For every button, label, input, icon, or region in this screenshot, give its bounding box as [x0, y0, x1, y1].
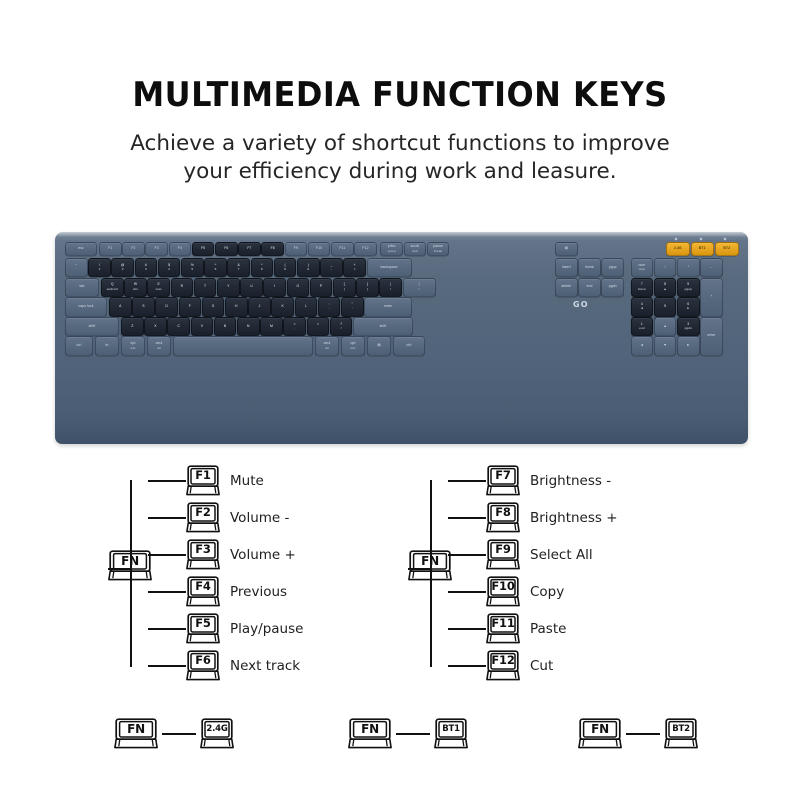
keycap-label: FN [348, 718, 392, 739]
key--[interactable]: :; [318, 297, 341, 316]
key-backslash[interactable]: |\ [403, 278, 436, 297]
pairing-row: FN2.4GFNBT1FNBT2 [0, 718, 800, 778]
key-k[interactable]: K [271, 297, 294, 316]
key-x[interactable]: X [144, 317, 167, 336]
shortcut-row: F1Mute [186, 462, 303, 499]
key-sublegend: [ [344, 288, 345, 291]
key-legend: delete [561, 285, 571, 289]
key-legend: * [688, 266, 689, 270]
key-legend: S [142, 305, 144, 309]
shortcut-row: F8Brightness + [486, 499, 618, 536]
key-ctrl-right[interactable]: ctrl [393, 336, 425, 355]
row-connector [148, 665, 186, 667]
key-legend: BT2 [723, 247, 730, 251]
key-sublegend: , [294, 327, 295, 330]
keycap-label: F9 [486, 539, 520, 560]
key-sublegend: 8 [261, 268, 263, 271]
keycap-label: F3 [186, 539, 220, 560]
key-numpad-plus[interactable]: + [700, 278, 723, 317]
key-legend: ctrl [77, 344, 82, 348]
keycap-f12: F12 [486, 650, 520, 682]
shortcut-row: F3Volume + [186, 536, 303, 573]
key-f4[interactable]: F4 [169, 242, 192, 256]
key-f9[interactable]: F9 [285, 242, 308, 256]
pairing-connector [162, 733, 196, 735]
key-legend: Z [131, 325, 133, 329]
key-sublegend: mac [156, 288, 162, 291]
key-legend: O [297, 285, 300, 289]
key-numpad-multiply[interactable]: * [677, 258, 700, 277]
key-ctrl-left[interactable]: ctrl [65, 336, 93, 355]
key-sublegend: ◄ [640, 307, 643, 310]
key-legend: home [585, 266, 594, 270]
key-legend: J [259, 305, 261, 309]
row-connector [448, 591, 486, 593]
pairing-connector [626, 733, 660, 735]
key-bt2[interactable]: BT2 [715, 242, 739, 256]
key-arrow-up[interactable]: ▲ [654, 317, 677, 336]
key-legend: N [247, 325, 250, 329]
key-f10[interactable]: F10 [308, 242, 331, 256]
key-legend: pgdn [609, 285, 617, 289]
keycap-label: FN [114, 718, 158, 739]
key-space[interactable] [173, 336, 313, 355]
key-legend: shift [89, 325, 96, 329]
key-pgdn[interactable]: pgdn [601, 278, 624, 297]
keyboard-deck: escF1F2F3F4F5F6F7F8F9F10F11F12prtscsysrq… [55, 236, 748, 432]
fn-connector-left [108, 568, 132, 570]
shortcut-row: F5Play/pause [186, 610, 303, 647]
key-legend: 5 [664, 305, 666, 309]
key-legend: Y [227, 285, 229, 289]
key-legend: F5 [201, 247, 205, 251]
key-legend: ▤ [565, 247, 568, 251]
key-legend: B [224, 325, 226, 329]
key--[interactable]: ?/ [330, 317, 353, 336]
row-connector [148, 628, 186, 630]
key-legend: + [710, 295, 712, 299]
key-o[interactable]: O [287, 278, 310, 297]
key-sublegend: 2 [122, 268, 124, 271]
bracket-spine-right [430, 480, 432, 667]
key-cmd-right[interactable]: cmdalt [315, 336, 339, 355]
key-f7[interactable]: F7 [238, 242, 261, 256]
key-numpad-5[interactable]: 5 [654, 297, 677, 316]
key-legend: F9 [294, 247, 298, 251]
key-numpad-4[interactable]: 4◄ [631, 297, 654, 316]
key-pgup[interactable]: pgup [601, 258, 624, 277]
key-legend: H [235, 305, 238, 309]
key-sublegend: ` [76, 268, 77, 271]
pairing-combo: FNBT1 [348, 718, 468, 750]
key-calculator[interactable]: ▤ [555, 242, 578, 256]
key-numpad-8[interactable]: 8▲ [654, 278, 677, 297]
key--[interactable]: "' [341, 297, 364, 316]
key-|[interactable]: |\ [379, 278, 402, 297]
key-y[interactable]: Y [217, 278, 240, 297]
key--[interactable]: _- [320, 258, 343, 277]
key-l[interactable]: L [295, 297, 318, 316]
pairing-connector [396, 733, 430, 735]
key-sublegend: ; [329, 307, 330, 310]
key-legend: F8 [271, 247, 275, 251]
key-numpad-9[interactable]: 9pgup [677, 278, 700, 297]
key-arrow-left[interactable]: ◄ [631, 336, 654, 355]
keycap-f6: F6 [186, 650, 220, 682]
key-legend: K [282, 305, 284, 309]
key-legend: 2.4G [674, 247, 682, 251]
keycap-fn: FN [578, 718, 622, 750]
keycap-f8: F8 [486, 502, 520, 534]
key-legend: F1 [108, 247, 112, 251]
key-sublegend: lock [412, 250, 418, 253]
key-legend: R [181, 285, 184, 289]
key-legend: pgup [609, 266, 617, 270]
keycap-f3: F3 [186, 539, 220, 571]
key-sublegend: ► [687, 307, 690, 310]
key-sublegend: 7 [238, 268, 240, 271]
row-connector [148, 517, 186, 519]
key-home[interactable]: home [578, 258, 601, 277]
shortcut-action-label: Mute [230, 473, 264, 489]
key-cmd-left[interactable]: cmdalt [147, 336, 171, 355]
keycap-2-4g: 2.4G [200, 718, 234, 750]
key-insert[interactable]: insert [555, 258, 578, 277]
key-6[interactable]: ^6 [204, 258, 227, 277]
keycap-f1: F1 [186, 465, 220, 497]
key-f1[interactable]: F1 [99, 242, 122, 256]
shortcut-action-label: Select All [530, 547, 593, 563]
brand-logo: GO [573, 300, 589, 309]
key-spacer2[interactable] [631, 317, 633, 319]
row-connector [448, 554, 486, 556]
key-backspace[interactable]: backspace [367, 258, 412, 277]
key-legend: – [710, 266, 712, 270]
row-connector [148, 480, 186, 482]
key-capslock[interactable]: caps lock [65, 297, 107, 316]
key-numpad-1[interactable]: 1end [631, 317, 654, 336]
key-legend: BT1 [699, 247, 706, 251]
shortcut-action-label: Paste [530, 621, 566, 637]
shortcut-action-label: Volume - [230, 510, 289, 526]
key-f6[interactable]: F6 [215, 242, 238, 256]
key-numlock[interactable]: numlock [631, 258, 654, 277]
key-e[interactable]: Emac [147, 278, 170, 297]
key-legend: ctrl [407, 344, 412, 348]
keycap-label: F8 [486, 502, 520, 523]
keyboard-body: escF1F2F3F4F5F6F7F8F9F10F11F12prtscsysrq… [55, 232, 748, 444]
key-opt-left[interactable]: optwin [121, 336, 145, 355]
key-legend: D [165, 305, 168, 309]
key-b[interactable]: B [214, 317, 237, 336]
key-delete[interactable]: delete [555, 278, 578, 297]
keycap-label: F10 [486, 576, 520, 597]
key-g[interactable]: G [202, 297, 225, 316]
pairing-combo: FN2.4G [114, 718, 234, 750]
key-m[interactable]: M [260, 317, 283, 336]
key-esc[interactable]: esc [65, 242, 97, 256]
key-numpad-7[interactable]: 7home [631, 278, 654, 297]
key-sublegend: \ [390, 288, 391, 291]
key-fn[interactable]: fn [95, 336, 119, 355]
keycap-f5: F5 [186, 613, 220, 645]
key-legend: ▤ [377, 344, 380, 348]
keycap-f7: F7 [486, 465, 520, 497]
shortcut-row: F10Copy [486, 573, 618, 610]
keycap-label: F12 [486, 650, 520, 671]
key-z[interactable]: Z [121, 317, 144, 336]
key-d[interactable]: D [155, 297, 178, 316]
key-sublegend: \ [419, 288, 420, 291]
keycap-fn: FN [114, 718, 158, 750]
row-connector [448, 628, 486, 630]
key-sublegend: win [131, 347, 136, 350]
key-sublegend: 3 [145, 268, 147, 271]
key-sublegend: ' [352, 307, 353, 310]
shortcut-row: F6Next track [186, 647, 303, 684]
key-tab[interactable]: tab [65, 278, 99, 297]
key-legend: enter [384, 305, 392, 309]
key-legend: P [320, 285, 322, 289]
key-9[interactable]: (9 [274, 258, 297, 277]
key-arrow-down[interactable]: ▼ [654, 336, 677, 355]
row-connector [448, 517, 486, 519]
row-connector [148, 591, 186, 593]
shortcut-rows-right: F7Brightness -F8Brightness +F9Select All… [486, 462, 618, 684]
shortcut-action-label: Brightness - [530, 473, 611, 489]
key-sublegend: break [434, 250, 442, 253]
shortcut-column-right: FN F7Brightness -F8Brightness +F9Select … [408, 462, 708, 684]
row-connector [148, 554, 186, 556]
key-legend: backspace [381, 266, 398, 270]
key-spacer[interactable] [654, 317, 656, 319]
key-5[interactable]: %5 [181, 258, 204, 277]
key-bt1[interactable]: BT1 [691, 242, 715, 256]
key-prtsc[interactable]: prtscsysrq [380, 242, 403, 256]
key-pause[interactable]: pausebreak [427, 242, 450, 256]
keycap-label: 2.4G [200, 718, 234, 739]
key-7[interactable]: &7 [227, 258, 250, 277]
key-legend: U [250, 285, 253, 289]
key-menu[interactable]: ▤ [367, 336, 391, 355]
key-sublegend: 0 [307, 268, 309, 271]
key-legend: end [587, 285, 593, 289]
keycap-label: F5 [186, 613, 220, 634]
keycap-f4: F4 [186, 576, 220, 608]
key-f11[interactable]: F11 [331, 242, 354, 256]
key-numpad-minus[interactable]: – [700, 258, 723, 277]
key-v[interactable]: V [191, 317, 214, 336]
key-arrow-right[interactable]: ► [677, 336, 700, 355]
key-legend: caps lock [78, 305, 93, 309]
key-legend: ◄ [640, 344, 643, 348]
key-end[interactable]: end [578, 278, 601, 297]
key-sublegend: 9 [284, 268, 286, 271]
key-legend: ▲ [663, 325, 666, 329]
shortcut-action-label: Cut [530, 658, 553, 674]
key-legend: C [177, 325, 180, 329]
key-legend: M [270, 325, 273, 329]
key-f5[interactable]: F5 [192, 242, 215, 256]
key-sublegend: end [639, 327, 644, 330]
key-q[interactable]: Qandroid [101, 278, 124, 297]
keycap-label: FN [578, 718, 622, 739]
key-sublegend: lock [639, 268, 645, 271]
key-enter[interactable]: enter [364, 297, 412, 316]
key-4[interactable]: $4 [158, 258, 181, 277]
shortcut-row: F2Volume - [186, 499, 303, 536]
key--[interactable]: >. [307, 317, 330, 336]
key-legend: V [201, 325, 203, 329]
shortcut-row: F9Select All [486, 536, 618, 573]
keycap-label: F4 [186, 576, 220, 597]
key-backtick[interactable]: ~` [65, 258, 88, 277]
page-subtitle: Achieve a variety of shortcut functions … [0, 130, 800, 187]
key-f8[interactable]: F8 [261, 242, 284, 256]
key-w[interactable]: Wwin [124, 278, 147, 297]
key-h[interactable]: H [225, 297, 248, 316]
key-sublegend: home [638, 288, 646, 291]
key-legend: F11 [339, 247, 345, 251]
key-legend: fn [105, 344, 108, 348]
led-indicator-bt2 [724, 238, 726, 240]
key-{[interactable]: {[ [333, 278, 356, 297]
key-legend: F12 [362, 247, 368, 251]
key-1[interactable]: !1 [88, 258, 111, 277]
key-legend: L [305, 305, 307, 309]
key-legend: insert [562, 266, 571, 270]
key-2-4g[interactable]: 2.4G [666, 242, 690, 256]
key-t[interactable]: T [194, 278, 217, 297]
shortcut-map: FN F1MuteF2Volume -F3Volume +F4PreviousF… [0, 462, 800, 692]
key-2[interactable]: @2 [111, 258, 134, 277]
keycap-f10: F10 [486, 576, 520, 608]
shortcut-action-label: Play/pause [230, 621, 303, 637]
key-legend: F7 [247, 247, 251, 251]
keycap-label: F1 [186, 465, 220, 486]
key-legend: / [665, 266, 666, 270]
led-indicator-2-4g [675, 238, 677, 240]
key-sublegend: alt [325, 347, 329, 350]
key-legend: F3 [155, 247, 159, 251]
key-shift-right[interactable]: shift [353, 317, 413, 336]
key-scroll[interactable]: scrolllock [404, 242, 427, 256]
key-j[interactable]: J [248, 297, 271, 316]
key-sublegend: pgdn [685, 327, 692, 330]
key-sublegend: win [351, 347, 356, 350]
key-u[interactable]: U [240, 278, 263, 297]
key-sublegend: android [107, 288, 118, 291]
key-3[interactable]: #3 [135, 258, 158, 277]
key-sublegend: sysrq [388, 250, 396, 253]
key-numpad-3[interactable]: 3pgdn [677, 317, 700, 336]
key-c[interactable]: C [167, 317, 190, 336]
key-sublegend: 4 [168, 268, 170, 271]
keycap-f9: F9 [486, 539, 520, 571]
shortcut-row: F4Previous [186, 573, 303, 610]
shortcut-row: F11Paste [486, 610, 618, 647]
key-a[interactable]: A [109, 297, 132, 316]
keyboard-photo: escF1F2F3F4F5F6F7F8F9F10F11F12prtscsysrq… [55, 232, 748, 444]
keycap-bt2: BT2 [664, 718, 698, 750]
shortcut-rows-left: F1MuteF2Volume -F3Volume +F4PreviousF5Pl… [186, 462, 303, 684]
key-legend: X [154, 325, 156, 329]
key-s[interactable]: S [132, 297, 155, 316]
key-legend: A [119, 305, 121, 309]
key-legend: F4 [178, 247, 182, 251]
key-f2[interactable]: F2 [122, 242, 145, 256]
shortcut-column-left: FN F1MuteF2Volume -F3Volume +F4PreviousF… [108, 462, 408, 684]
key-sublegend: win [133, 288, 138, 291]
key-shift-left[interactable]: shift [65, 317, 119, 336]
subtitle-line-1: Achieve a variety of shortcut functions … [0, 130, 800, 158]
key-sublegend: ▲ [664, 288, 667, 291]
key-sublegend: . [317, 327, 318, 330]
key-legend: F6 [224, 247, 228, 251]
shortcut-row: F12Cut [486, 647, 618, 684]
key-f3[interactable]: F3 [145, 242, 168, 256]
pairing-combo: FNBT2 [578, 718, 698, 750]
key-numpad-6[interactable]: 6► [677, 297, 700, 316]
key-numpad-enter[interactable]: enter [700, 317, 723, 356]
shortcut-action-label: Brightness + [530, 510, 618, 526]
key-numpad-divide[interactable]: / [654, 258, 677, 277]
key-legend: I [274, 285, 275, 289]
key-sublegend: / [341, 327, 342, 330]
key-sublegend: ] [367, 288, 368, 291]
key-r[interactable]: R [171, 278, 194, 297]
keycap-label: F11 [486, 613, 520, 634]
key-legend: ► [687, 344, 690, 348]
key-sublegend: pgup [685, 288, 692, 291]
keycap-f11: F11 [486, 613, 520, 645]
key-i[interactable]: I [263, 278, 286, 297]
key-legend: tab [79, 285, 84, 289]
shortcut-row: F7Brightness - [486, 462, 618, 499]
subtitle-line-2: your efficiency during work and leasure. [0, 158, 800, 186]
key-legend: esc [78, 247, 84, 251]
keycap-label: BT1 [434, 718, 468, 739]
key-f[interactable]: F [179, 297, 202, 316]
shortcut-action-label: Copy [530, 584, 564, 600]
key-legend: F2 [131, 247, 135, 251]
header: MULTIMEDIA FUNCTION KEYS Achieve a varie… [0, 78, 800, 186]
key-p[interactable]: P [310, 278, 333, 297]
key-=[interactable]: += [343, 258, 366, 277]
key-legend: G [212, 305, 215, 309]
key-opt-right[interactable]: optwin [341, 336, 365, 355]
infographic-page: MULTIMEDIA FUNCTION KEYS Achieve a varie… [0, 0, 800, 800]
key-8[interactable]: *8 [251, 258, 274, 277]
key--[interactable]: <, [283, 317, 306, 336]
keycap-bt1: BT1 [434, 718, 468, 750]
led-indicator-bt1 [700, 238, 702, 240]
key-sublegend: - [331, 268, 332, 271]
key-}[interactable]: }] [356, 278, 379, 297]
key-sublegend: alt [157, 347, 161, 350]
key-sublegend: 1 [99, 268, 101, 271]
keycap-f2: F2 [186, 502, 220, 534]
keycap-label: F7 [486, 465, 520, 486]
key-f12[interactable]: F12 [354, 242, 377, 256]
key-sublegend: 5 [191, 268, 193, 271]
key-legend: F10 [316, 247, 322, 251]
shortcut-action-label: Next track [230, 658, 300, 674]
key-n[interactable]: N [237, 317, 260, 336]
keycap-fn: FN [348, 718, 392, 750]
shortcut-action-label: Volume + [230, 547, 296, 563]
key-0[interactable]: )0 [297, 258, 320, 277]
